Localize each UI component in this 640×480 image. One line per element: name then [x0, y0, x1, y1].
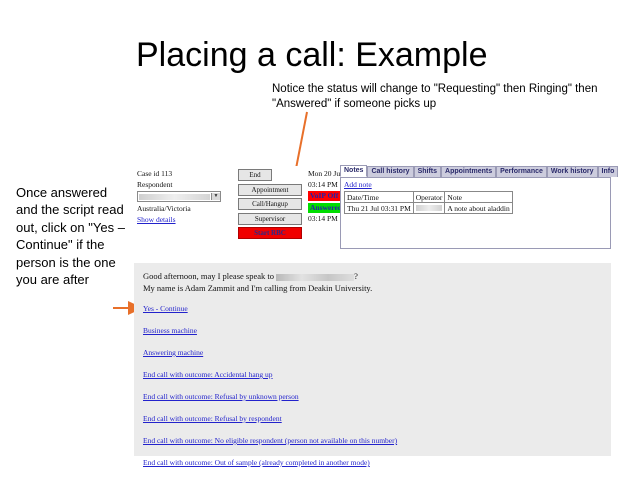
- application-screenshot: Case id 113 Respondent ▼ Australia/Victo…: [134, 166, 611, 456]
- notes-table: Date/Time Operator Note Thu 21 Jul 03:31…: [344, 191, 513, 214]
- script-question-mark: ?: [354, 271, 358, 281]
- tab-appointments[interactable]: Appointments: [441, 166, 496, 177]
- cell-datetime: Thu 21 Jul 03:31 PM: [345, 203, 414, 214]
- column-header-note: Note: [445, 192, 512, 203]
- tab-work-history[interactable]: Work history: [547, 166, 598, 177]
- script-outcome-links: Yes - Continue Business machine Answerin…: [143, 304, 602, 467]
- script-greeting: Good afternoon, may I please speak to: [143, 271, 276, 281]
- script-area: Good afternoon, may I please speak to ? …: [134, 263, 611, 456]
- respondent-value-redacted: [139, 194, 210, 200]
- chevron-down-icon[interactable]: ▼: [211, 193, 220, 200]
- left-annotation-text: Once answered and the script read out, c…: [16, 184, 128, 288]
- link-outcome-refusal-respondent[interactable]: End call with outcome: Refusal by respon…: [143, 414, 602, 423]
- respondent-select[interactable]: ▼: [137, 191, 221, 202]
- tab-notes[interactable]: Notes: [340, 165, 367, 177]
- tab-performance[interactable]: Performance: [496, 166, 547, 177]
- script-line-2: My name is Adam Zammit and I'm calling f…: [143, 283, 602, 295]
- respondent-name-redacted: [276, 274, 354, 281]
- call-status-badge: Answered: [308, 203, 344, 213]
- tab-bar: Notes Call history Shifts Appointments P…: [340, 166, 611, 177]
- add-note-link[interactable]: Add note: [344, 180, 607, 189]
- link-outcome-no-eligible-respondent[interactable]: End call with outcome: No eligible respo…: [143, 436, 602, 445]
- start-rbc-button[interactable]: Start RBC: [238, 227, 302, 239]
- operator-redacted: [416, 205, 442, 211]
- tab-call-history[interactable]: Call history: [367, 166, 413, 177]
- column-header-operator: Operator: [413, 192, 445, 203]
- action-button-group: End Appointment Call/Hangup Supervisor S…: [238, 169, 300, 242]
- table-header-row: Date/Time Operator Note: [345, 192, 513, 203]
- cell-note: A note about aladdin: [445, 203, 512, 214]
- case-id-label: Case id 113: [137, 169, 232, 180]
- link-business-machine[interactable]: Business machine: [143, 326, 602, 335]
- voip-status-badge: VoIP Off: [308, 191, 340, 201]
- tab-shifts[interactable]: Shifts: [414, 166, 441, 177]
- show-details-link[interactable]: Show details: [137, 215, 232, 226]
- app-header-row: Case id 113 Respondent ▼ Australia/Victo…: [134, 166, 611, 251]
- timezone-label: Australia/Victoria: [137, 204, 232, 215]
- tab-content-notes: Add note Date/Time Operator Note Thu 21 …: [340, 177, 611, 249]
- end-button[interactable]: End: [238, 169, 272, 181]
- column-header-datetime: Date/Time: [345, 192, 414, 203]
- tab-panel: Notes Call history Shifts Appointments P…: [340, 166, 611, 251]
- tab-info[interactable]: Info: [598, 166, 619, 177]
- link-yes-continue[interactable]: Yes - Continue: [143, 304, 602, 313]
- page-title: Placing a call: Example: [136, 36, 488, 75]
- cell-operator: [413, 203, 445, 214]
- top-annotation-text: Notice the status will change to "Reques…: [272, 82, 602, 112]
- call-hangup-button[interactable]: Call/Hangup: [238, 198, 302, 210]
- table-row[interactable]: Thu 21 Jul 03:31 PM A note about aladdin: [345, 203, 513, 214]
- case-info-block: Case id 113 Respondent ▼ Australia/Victo…: [137, 169, 232, 225]
- respondent-label: Respondent: [137, 180, 232, 191]
- link-answering-machine[interactable]: Answering machine: [143, 348, 602, 357]
- link-outcome-out-of-sample[interactable]: End call with outcome: Out of sample (al…: [143, 458, 602, 467]
- link-outcome-accidental-hangup[interactable]: End call with outcome: Accidental hang u…: [143, 370, 602, 379]
- script-line-1: Good afternoon, may I please speak to ?: [143, 271, 602, 283]
- link-outcome-refusal-unknown-person[interactable]: End call with outcome: Refusal by unknow…: [143, 392, 602, 401]
- supervisor-button[interactable]: Supervisor: [238, 213, 302, 225]
- appointment-button[interactable]: Appointment: [238, 184, 302, 196]
